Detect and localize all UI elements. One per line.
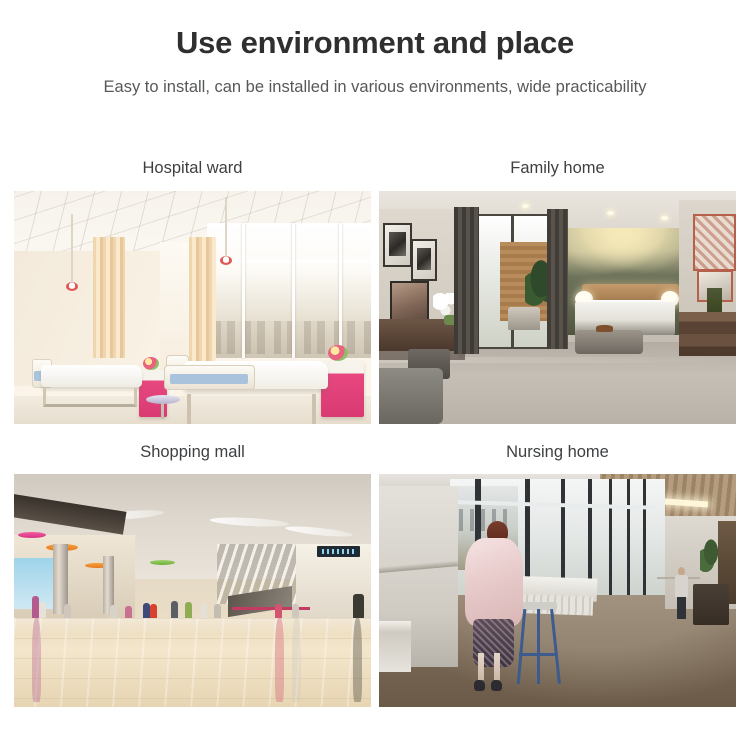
gallery-cell-nursing-home: Nursing home: [375, 424, 750, 708]
mall-shoppers: [14, 577, 371, 624]
gallery-cell-shopping-mall: Shopping mall: [0, 424, 375, 708]
caption-shopping-mall: Shopping mall: [14, 424, 371, 475]
ward-window-mullion: [339, 223, 342, 358]
home-table-lamp: [707, 288, 721, 314]
family-home-photo: [379, 191, 736, 424]
nursing-home-photo: [379, 474, 736, 707]
home-framed-art: [411, 239, 436, 280]
corridor-distant-person: [675, 567, 687, 618]
ward-curtain: [189, 237, 216, 360]
gallery-cell-hospital-ward: Hospital ward: [0, 140, 375, 424]
home-framed-art: [693, 214, 736, 272]
corridor-bench: [379, 621, 411, 672]
caption-hospital-ward: Hospital ward: [14, 140, 371, 191]
ward-flower-vase: [328, 345, 348, 361]
mall-shop-sign: [317, 546, 360, 556]
elderly-woman: [461, 521, 532, 691]
corridor-plant: [700, 539, 721, 572]
window-mullion: [627, 479, 630, 596]
page-header: Use environment and place Easy to instal…: [0, 0, 750, 98]
environment-gallery: Hospital ward: [0, 140, 750, 707]
ward-curtain: [93, 237, 125, 358]
page-subtitle: Easy to install, can be installed in var…: [0, 63, 750, 98]
use-environment-page: Use environment and place Easy to instal…: [0, 0, 750, 750]
gallery-row: Hospital ward: [0, 140, 750, 424]
home-wall-wash-lighting: [568, 228, 679, 284]
home-curtain: [454, 207, 479, 354]
hospital-ward-photo: [14, 191, 371, 424]
window-mullion: [609, 479, 612, 596]
home-dresser: [679, 312, 736, 356]
ward-bed-front: [164, 349, 328, 424]
corridor-chairs: [693, 584, 729, 626]
ward-bed-rear: [32, 356, 143, 407]
ward-iv-hook: [225, 197, 227, 258]
gallery-row: Shopping mall: [0, 424, 750, 708]
shopping-mall-photo: [14, 474, 371, 707]
home-balcony-chair: [508, 307, 540, 330]
mall-polished-floor: [14, 618, 371, 707]
window-mullion: [643, 479, 646, 596]
home-framed-art: [383, 223, 412, 267]
caption-nursing-home: Nursing home: [379, 424, 736, 475]
home-sofa: [379, 368, 443, 424]
gallery-cell-family-home: Family home: [375, 140, 750, 424]
ward-window-mullion: [242, 223, 245, 358]
home-curtain: [547, 209, 568, 349]
home-bed-bench: [575, 330, 643, 353]
page-title: Use environment and place: [0, 0, 750, 63]
ward-flower-vase: [143, 357, 159, 370]
ward-iv-hook: [71, 214, 73, 284]
ward-window-mullion: [292, 223, 295, 358]
caption-family-home: Family home: [379, 140, 736, 191]
